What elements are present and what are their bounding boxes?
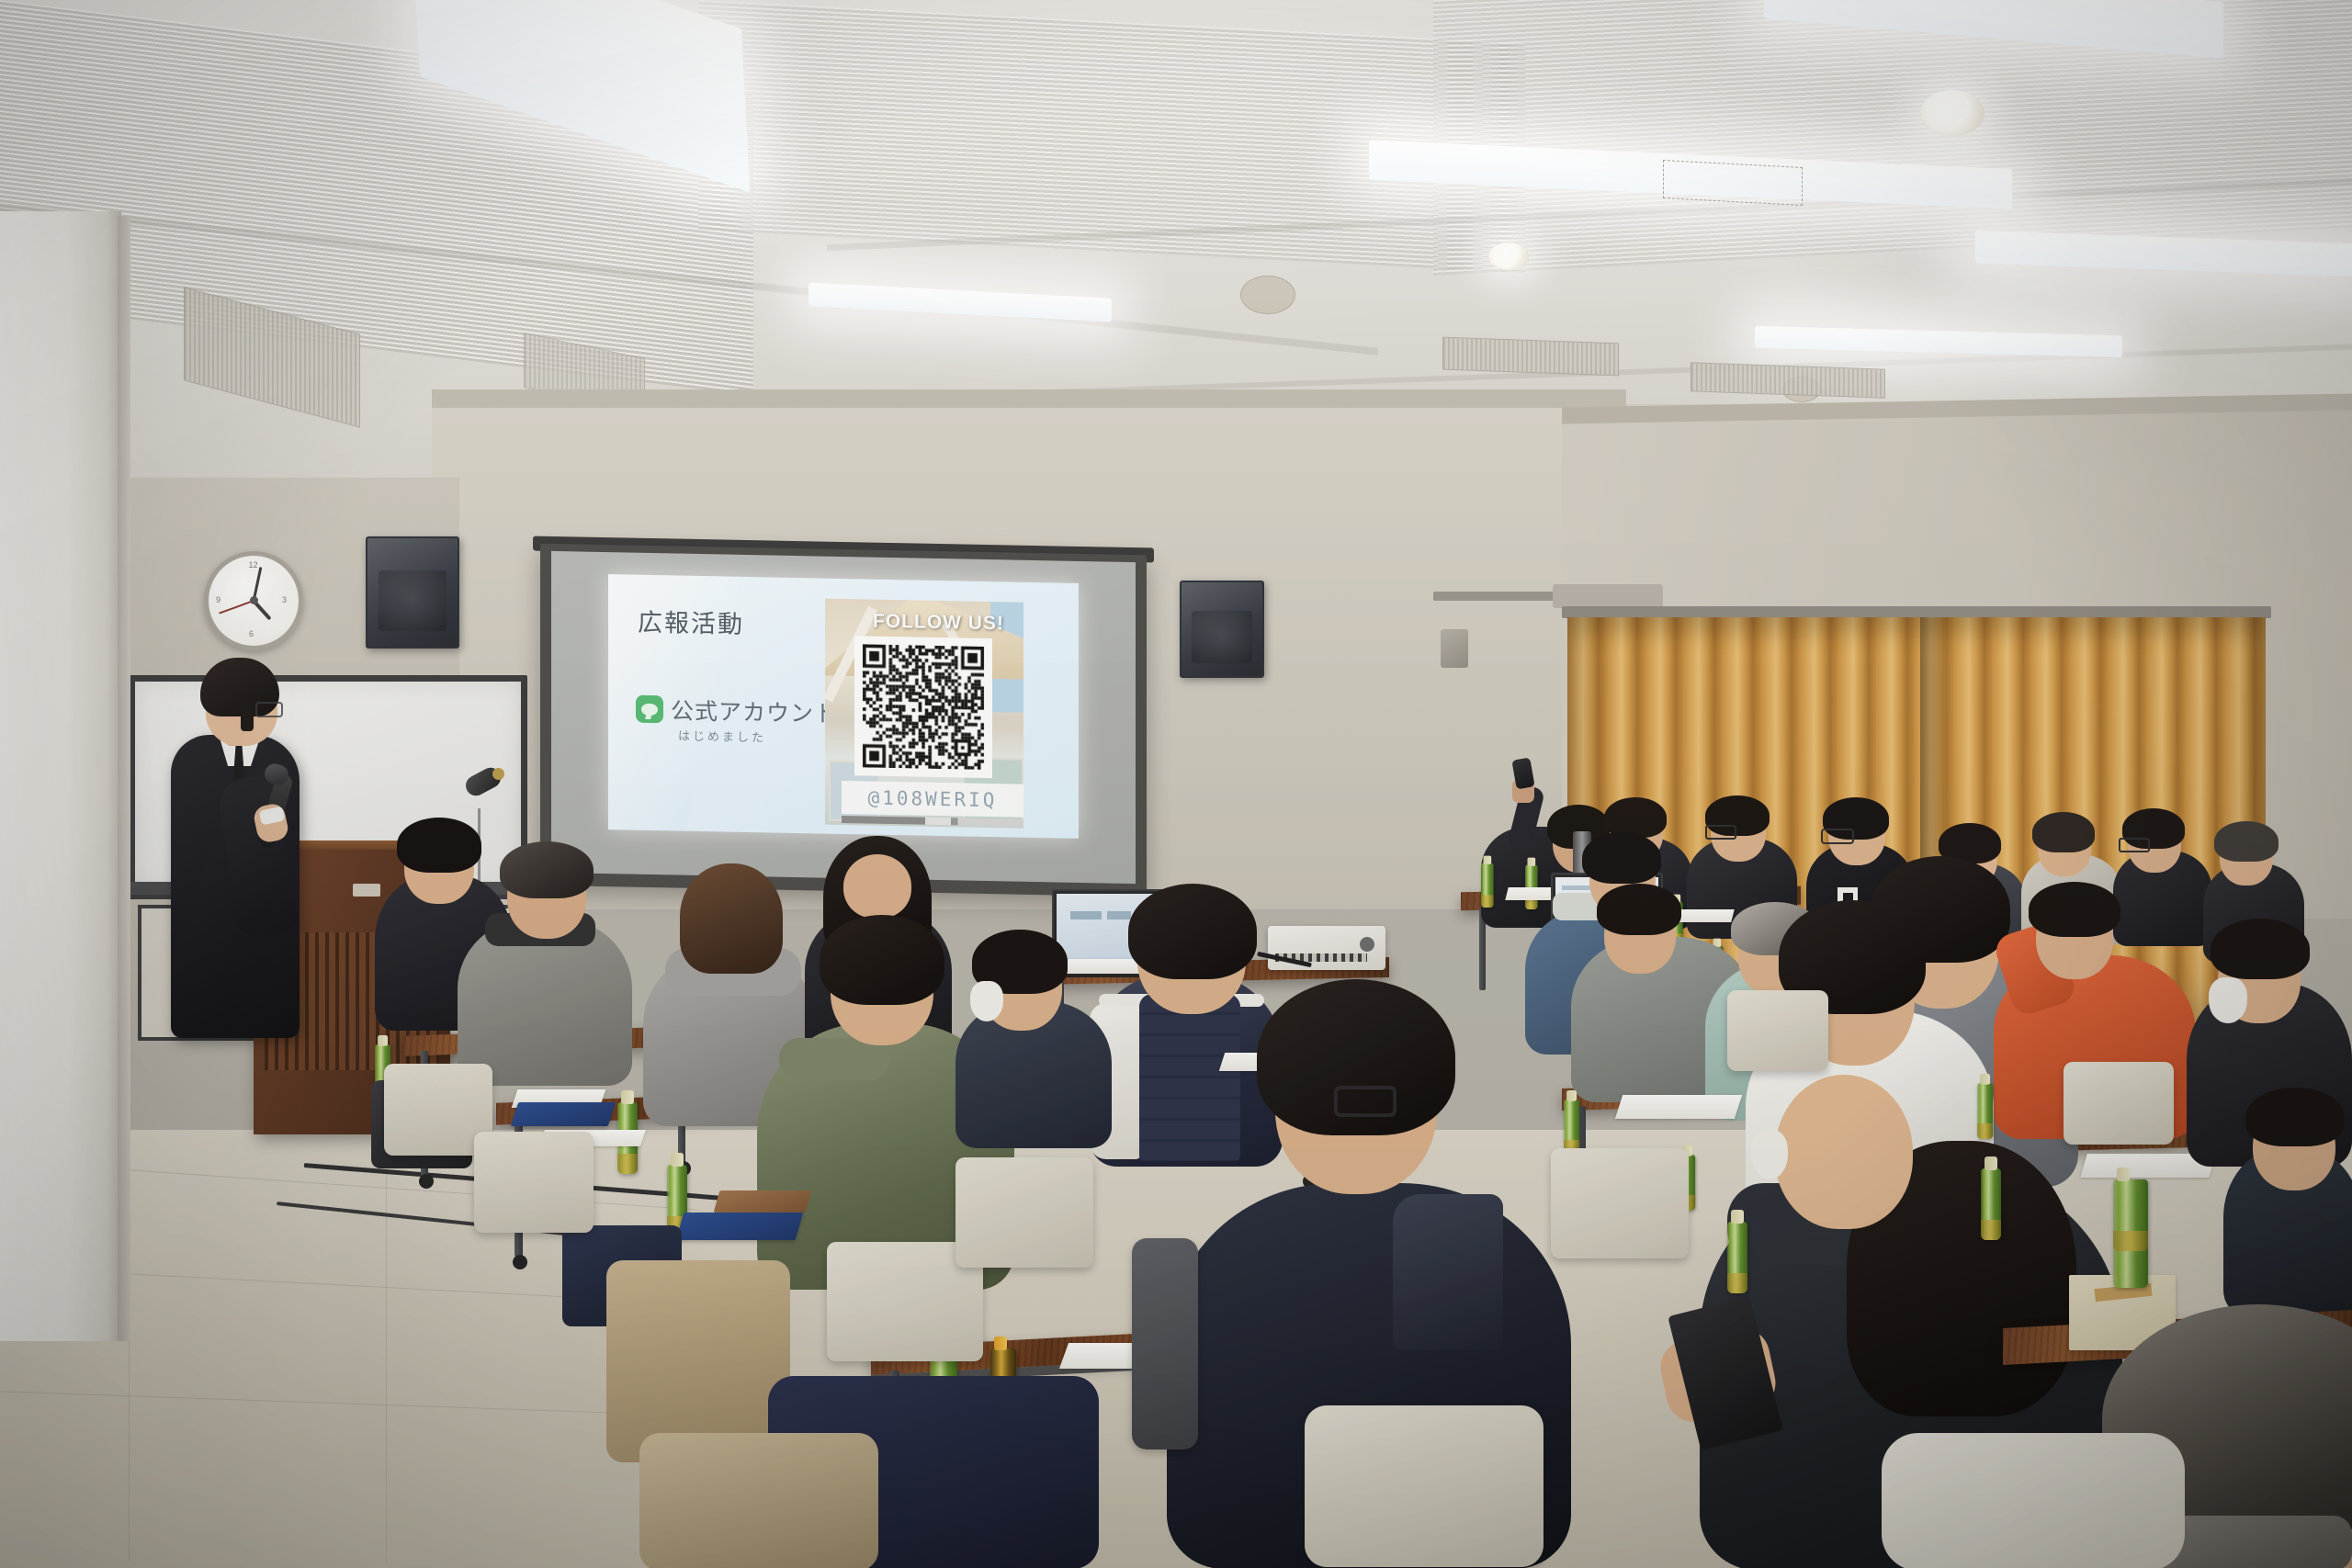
- ceiling-light-panel: [808, 282, 1112, 321]
- tea-bottle: [1727, 1222, 1747, 1293]
- chair[interactable]: [474, 1132, 594, 1233]
- ceiling-vent: [1690, 362, 1885, 398]
- ceiling-light-panel: [1755, 326, 2122, 357]
- glasses-icon: [1821, 829, 1854, 844]
- slide-title: 広報活動: [638, 603, 744, 640]
- line-account-sub: はじめました: [678, 727, 766, 746]
- glasses-icon: [1334, 1086, 1396, 1117]
- glasses-icon: [255, 702, 283, 717]
- notebook-cover: [714, 1190, 812, 1213]
- ceiling-vent: [1442, 337, 1619, 377]
- chair[interactable]: [955, 1157, 1093, 1268]
- seminar-room-photo: 12 3 6 9 広報活動 公式アカウント はじめました FOLLOW U: [0, 0, 2352, 1568]
- notebook: [676, 1213, 804, 1240]
- glasses-icon: [1705, 825, 1736, 840]
- line-account-row: 公式アカウント: [636, 693, 838, 729]
- face-mask: [970, 981, 1003, 1021]
- downlight: [1920, 90, 1984, 136]
- glasses-icon: [2119, 838, 2150, 852]
- projector: [1268, 926, 1385, 970]
- chair[interactable]: [1551, 1148, 1689, 1258]
- account-handle: @108WERIQ: [868, 787, 998, 812]
- chair-foreground[interactable]: [1882, 1433, 2185, 1568]
- coat-foreground: [639, 1433, 878, 1568]
- white-pillar: [0, 211, 121, 1341]
- microphone-tip: [492, 768, 504, 780]
- tea-bottle: [1981, 1168, 2001, 1240]
- line-account-label: 公式アカウント: [671, 693, 838, 728]
- follow-us-text: FOLLOW US!: [873, 611, 1004, 636]
- wall-clock: 12 3 6 9: [204, 551, 303, 650]
- tea-bottle: [1564, 1100, 1579, 1156]
- tea-bottle: [1481, 863, 1494, 908]
- qr-code-icon: [854, 636, 992, 778]
- chair-back[interactable]: [1132, 1238, 1198, 1450]
- notebook: [511, 1102, 616, 1126]
- presenter-sideburn: [241, 700, 254, 731]
- wall-speaker-small: [1441, 629, 1468, 668]
- ceiling-access-hatch: [1663, 160, 1803, 206]
- face-mask: [2209, 977, 2247, 1023]
- curtain-rail: [1433, 592, 1571, 601]
- qr-code-canvas: [863, 644, 984, 770]
- slide-content: 広報活動 公式アカウント はじめました FOLLOW US! @108WERIQ: [608, 574, 1079, 839]
- line-icon: [636, 695, 663, 724]
- qr-promo-photo: FOLLOW US! @108WERIQ: [825, 599, 1023, 829]
- tea-bottle: [1977, 1083, 1993, 1139]
- chair[interactable]: [2064, 1062, 2174, 1145]
- ceiling-speaker: [1240, 276, 1295, 314]
- ceiling-light-panel: [1975, 231, 2352, 277]
- wall-speaker-right: [1180, 581, 1264, 678]
- tea-bottle: [2113, 1179, 2148, 1288]
- pillar-edge: [118, 216, 130, 1341]
- chair[interactable]: [1305, 1405, 1543, 1567]
- handout: [1615, 1095, 1742, 1119]
- podium-plate: [353, 884, 380, 897]
- wall-beam: [432, 389, 1626, 408]
- chair[interactable]: [1727, 990, 1828, 1071]
- projection-screen: 広報活動 公式アカウント はじめました FOLLOW US! @108WERIQ: [551, 551, 1136, 884]
- wall-speaker-left: [366, 536, 459, 649]
- projector-mount: [1553, 584, 1663, 608]
- downlight: [1488, 243, 1529, 270]
- handle-strip: @108WERIQ: [842, 781, 1023, 818]
- coat-draped: [606, 1260, 790, 1462]
